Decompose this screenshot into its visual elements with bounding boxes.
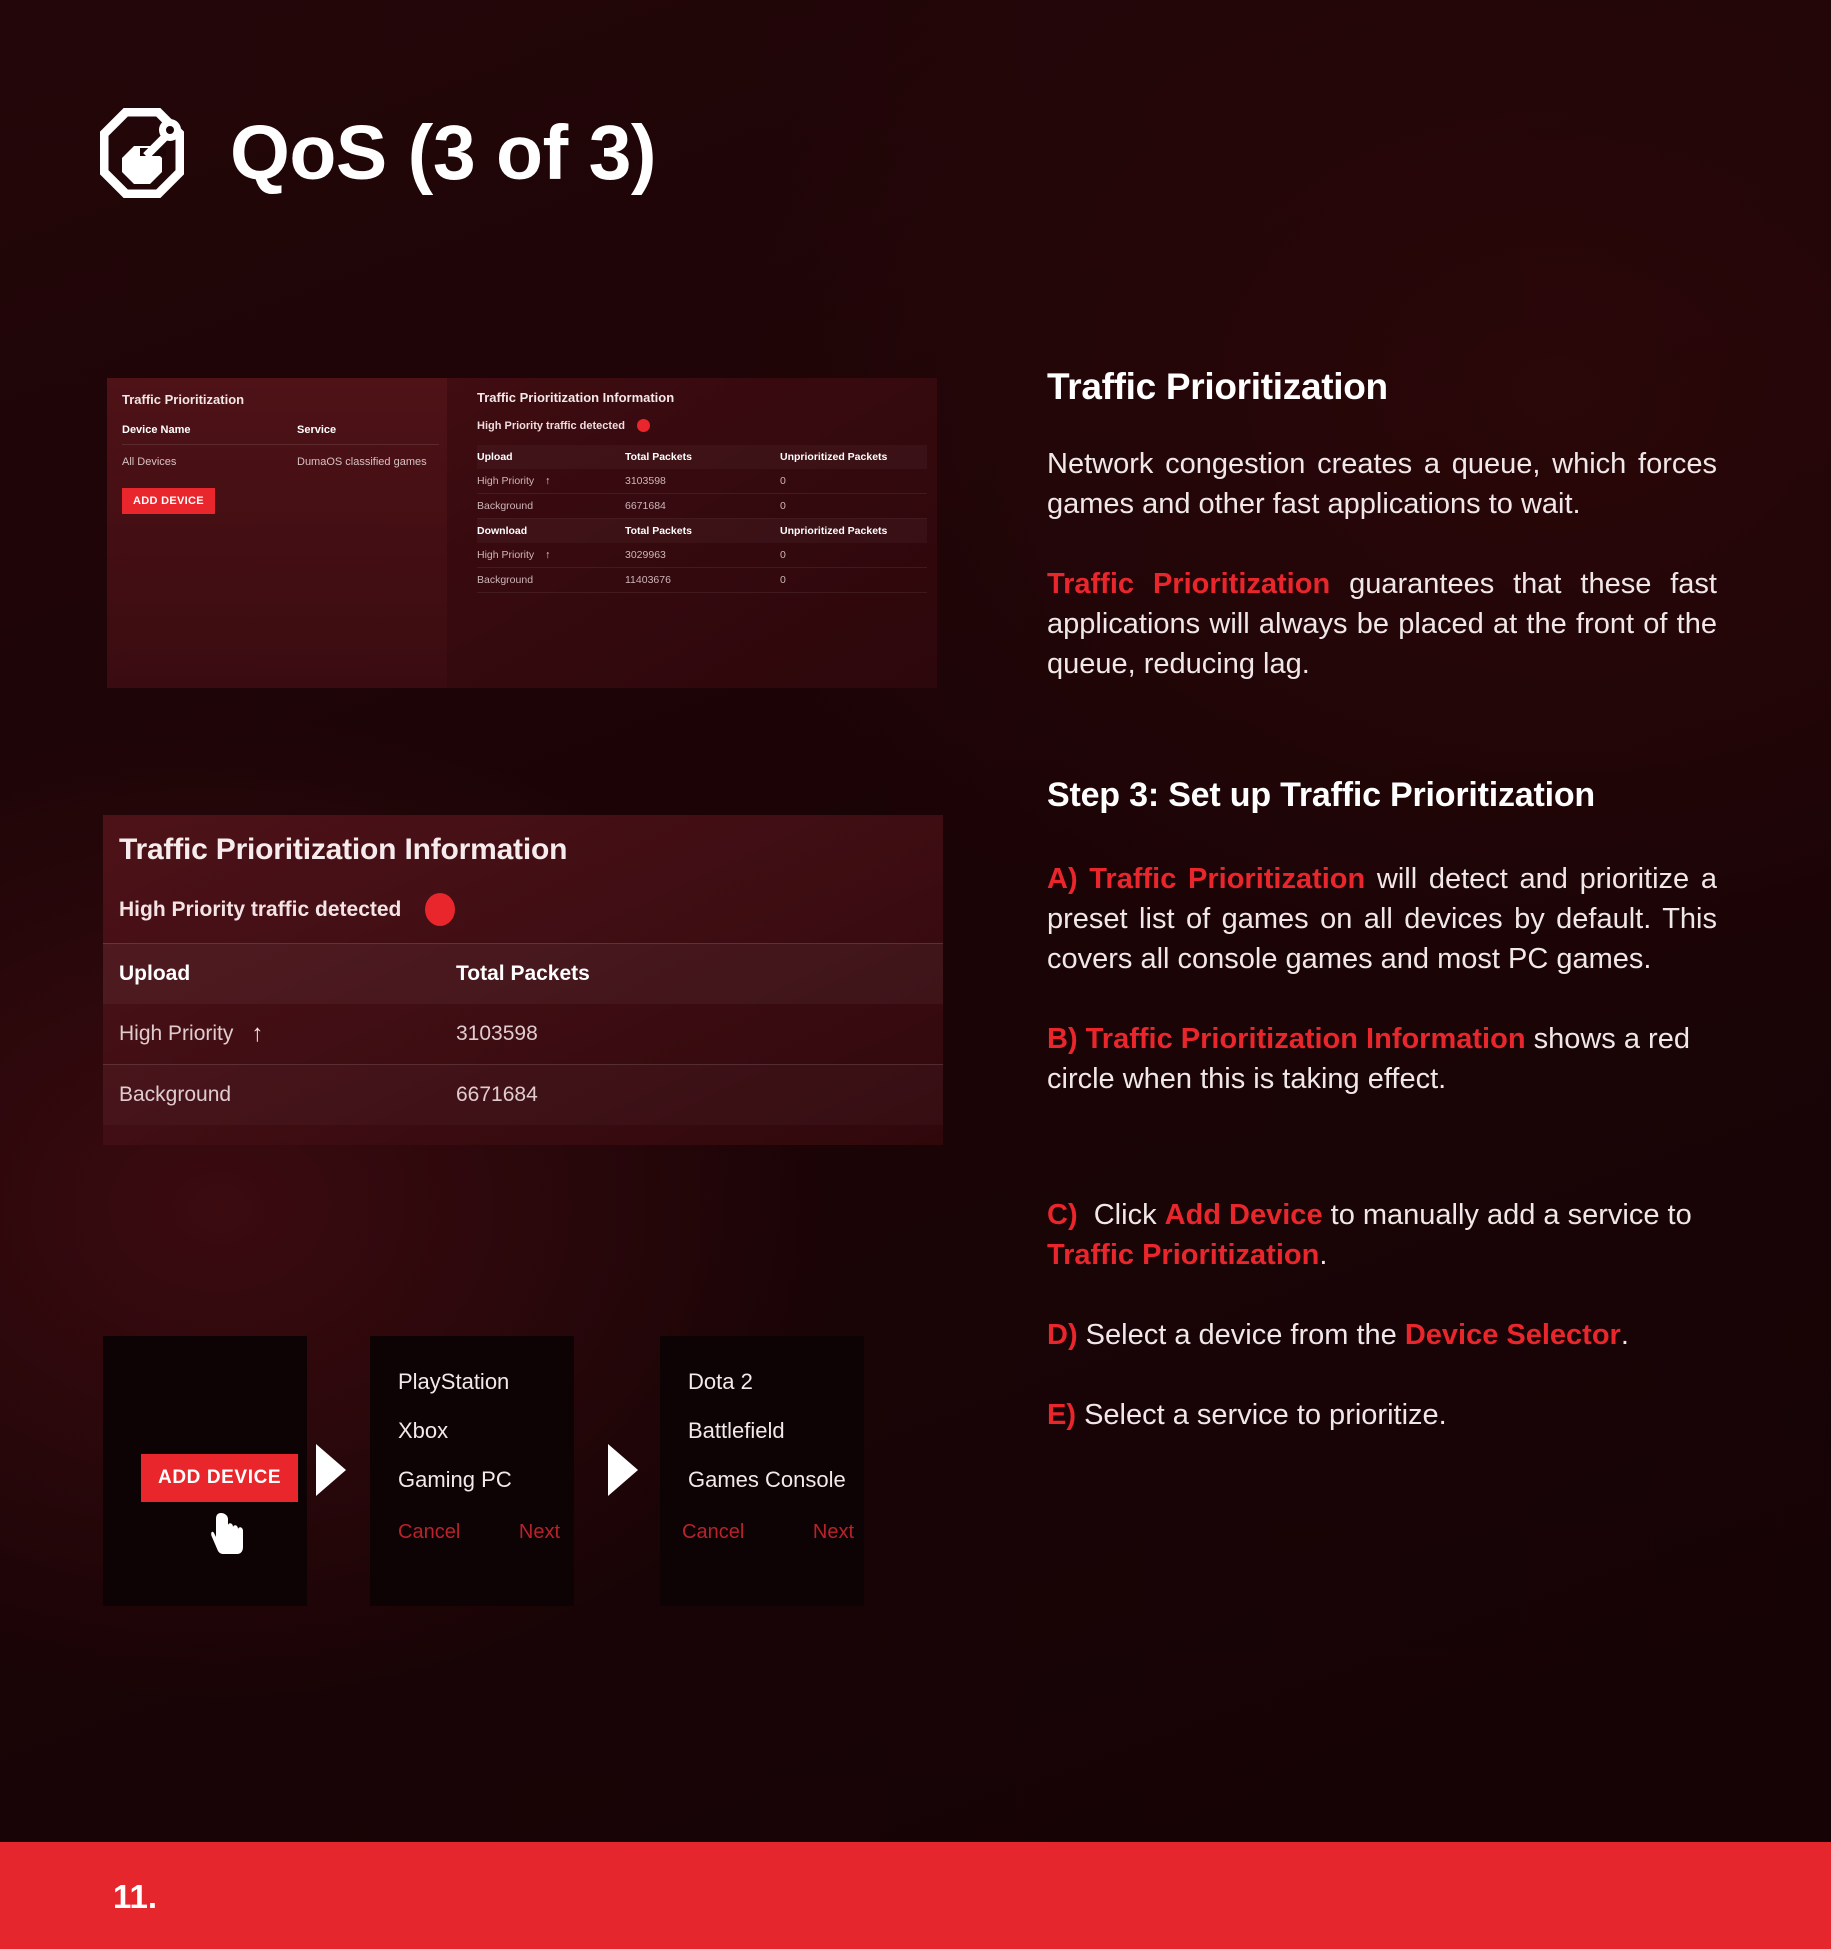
status-label: High Priority traffic detected: [477, 420, 625, 432]
marker-e: E): [1047, 1399, 1076, 1431]
section-heading-traffic-prioritization: Traffic Prioritization: [1047, 366, 1717, 408]
arrow-up-icon: ↑: [545, 549, 550, 561]
page-footer: 11.: [0, 1842, 1831, 1949]
pointer-cursor-icon: [211, 1511, 245, 1555]
list-item[interactable]: Battlefield: [688, 1418, 846, 1444]
device-options-list: PlayStation Xbox Gaming PC: [398, 1369, 512, 1516]
column-service: Service: [297, 424, 336, 436]
header-total-packets: Total Packets: [456, 962, 590, 986]
cell-total: 3029963: [625, 549, 780, 561]
table-row: Background 11403676 0: [477, 568, 927, 593]
tp-info-section-header-download: Download Total Packets Unprioritized Pac…: [477, 519, 927, 543]
paragraph-guarantees: Traffic Prioritization guarantees that t…: [1047, 564, 1717, 684]
status-indicator-dot-icon: [425, 893, 455, 926]
cell-priority-name: High Priority ↑: [477, 475, 625, 487]
paragraph-b: B) Traffic Prioritization Information sh…: [1047, 1019, 1717, 1099]
list-item[interactable]: Games Console: [688, 1467, 846, 1493]
tp-device-table-panel: Traffic Prioritization Device Name Servi…: [107, 378, 447, 688]
flow-step-add-device: ADD DEVICE: [103, 1336, 307, 1606]
info-panel-status: High Priority traffic detected: [119, 893, 455, 926]
paragraph-d: D) Select a device from the Device Selec…: [1047, 1315, 1717, 1355]
next-button[interactable]: Next: [813, 1521, 854, 1544]
inline-text: Select a service to prioritize.: [1084, 1399, 1447, 1431]
priority-label: High Priority: [477, 549, 534, 561]
cell-priority-name: Background: [477, 500, 625, 512]
tp-info-section-header-upload: Upload Total Packets Unprioritized Packe…: [477, 445, 927, 469]
priority-label: High Priority: [477, 475, 534, 487]
cell-priority-name: Background: [477, 574, 625, 586]
list-item[interactable]: Dota 2: [688, 1369, 846, 1395]
tp-information-panel: Traffic Prioritization Information High …: [477, 390, 927, 593]
explanation-column: Traffic Prioritization Network congestio…: [1047, 366, 1717, 1475]
arrow-up-icon: ↑: [545, 475, 550, 487]
list-item[interactable]: Gaming PC: [398, 1467, 512, 1493]
flow-arrow-icon: [608, 1444, 638, 1496]
page-number: 11.: [113, 1878, 157, 1916]
qos-octagon-icon: [100, 108, 184, 198]
marker-c: C): [1047, 1199, 1078, 1231]
marker-d: D): [1047, 1319, 1078, 1351]
tp-info-table: Upload Total Packets Unprioritized Packe…: [477, 445, 927, 593]
cell-device-name: All Devices: [122, 456, 297, 468]
table-row: All Devices DumaOS classified games: [122, 456, 439, 476]
paragraph-network-congestion: Network congestion creates a queue, whic…: [1047, 444, 1717, 524]
paragraph-e: E) Select a service to prioritize.: [1047, 1395, 1717, 1435]
tp-panel-title: Traffic Prioritization: [122, 392, 244, 407]
cancel-button[interactable]: Cancel: [398, 1521, 460, 1544]
cell-unprioritized: 0: [780, 549, 786, 561]
status-label: High Priority traffic detected: [119, 898, 401, 922]
tp-info-title: Traffic Prioritization Information: [477, 390, 927, 405]
service-selector-actions: Cancel Next: [682, 1521, 854, 1544]
cell-total: 6671684: [456, 1083, 538, 1107]
table-row: High Priority ↑ 3103598 0: [477, 469, 927, 494]
cell-unprioritized: 0: [780, 475, 786, 487]
service-options-list: Dota 2 Battlefield Games Console: [688, 1369, 846, 1516]
screenshot-traffic-prioritization-overview: Traffic Prioritization Device Name Servi…: [107, 378, 937, 688]
cell-total: 3103598: [456, 1022, 538, 1046]
cell-unprioritized: 0: [780, 574, 786, 586]
priority-label: High Priority: [119, 1022, 233, 1046]
flow-arrow-icon: [316, 1444, 346, 1496]
inline-highlight-add-device: Add Device: [1165, 1199, 1323, 1231]
table-header-row: Upload Total Packets: [103, 943, 943, 1004]
inline-highlight: Traffic Prioritization: [1089, 863, 1365, 895]
cell-total: 6671684: [625, 500, 780, 512]
inline-highlight: Traffic Prioritization: [1047, 568, 1330, 600]
header-direction: Download: [477, 525, 625, 537]
table-row: Background 6671684: [103, 1064, 943, 1125]
add-device-button[interactable]: ADD DEVICE: [122, 488, 215, 514]
marker-b: B): [1047, 1023, 1078, 1055]
inline-highlight-traffic-prioritization: Traffic Prioritization: [1047, 1239, 1319, 1271]
screenshot-traffic-prioritization-information: Traffic Prioritization Information High …: [103, 815, 943, 1145]
header-direction: Upload: [477, 451, 625, 463]
add-device-button[interactable]: ADD DEVICE: [141, 1454, 298, 1502]
spacer: [1047, 1139, 1717, 1195]
table-row: High Priority ↑ 3103598: [103, 1004, 943, 1064]
cell-total: 11403676: [625, 574, 780, 586]
header-total-packets: Total Packets: [625, 451, 780, 463]
header-unprioritized-packets: Unprioritized Packets: [780, 525, 887, 537]
cell-priority-name: High Priority ↑: [477, 549, 625, 561]
cancel-button[interactable]: Cancel: [682, 1521, 744, 1544]
paragraph-c: C) Click Add Device to manually add a se…: [1047, 1195, 1717, 1275]
cell-service: DumaOS classified games: [297, 456, 427, 468]
cell-total: 3103598: [625, 475, 780, 487]
arrow-up-icon: ↑: [251, 1022, 263, 1046]
status-indicator-dot-icon: [637, 419, 650, 432]
header-unprioritized-packets: Unprioritized Packets: [780, 451, 887, 463]
list-item[interactable]: PlayStation: [398, 1369, 512, 1395]
inline-text: Click: [1094, 1199, 1165, 1231]
table-row: High Priority ↑ 3029963 0: [477, 543, 927, 568]
inline-highlight: Traffic Prioritization Information: [1086, 1023, 1526, 1055]
inline-text: .: [1319, 1239, 1327, 1271]
info-panel-title: Traffic Prioritization Information: [119, 833, 567, 867]
cell-priority-name: Background: [119, 1083, 456, 1107]
inline-text: Select a device from the: [1086, 1319, 1405, 1351]
header-direction: Upload: [119, 962, 456, 986]
table-row: Background 6671684 0: [477, 494, 927, 519]
flow-step-device-selector: PlayStation Xbox Gaming PC Cancel Next: [370, 1336, 574, 1606]
list-item[interactable]: Xbox: [398, 1418, 512, 1444]
inline-highlight-device-selector: Device Selector: [1405, 1319, 1621, 1351]
tp-table-header: Device Name Service: [122, 424, 439, 445]
inline-text: .: [1621, 1319, 1629, 1351]
tp-info-status: High Priority traffic detected: [477, 419, 927, 432]
section-heading-step-3: Step 3: Set up Traffic Prioritization: [1047, 776, 1717, 815]
flow-step-service-selector: Dota 2 Battlefield Games Console Cancel …: [660, 1336, 864, 1606]
column-device-name: Device Name: [122, 424, 297, 436]
next-button[interactable]: Next: [519, 1521, 560, 1544]
page-title: QoS (3 of 3): [230, 115, 656, 192]
info-panel-table: Upload Total Packets High Priority ↑ 310…: [103, 943, 943, 1125]
paragraph-a: A) Traffic Prioritization will detect an…: [1047, 859, 1717, 979]
marker-a: A): [1047, 863, 1078, 895]
cell-unprioritized: 0: [780, 500, 786, 512]
device-selector-actions: Cancel Next: [398, 1521, 560, 1544]
cell-priority-name: High Priority ↑: [119, 1022, 456, 1046]
header-total-packets: Total Packets: [625, 525, 780, 537]
page-header: QoS (3 of 3): [100, 108, 656, 198]
inline-text: to manually add a service to: [1323, 1199, 1692, 1231]
